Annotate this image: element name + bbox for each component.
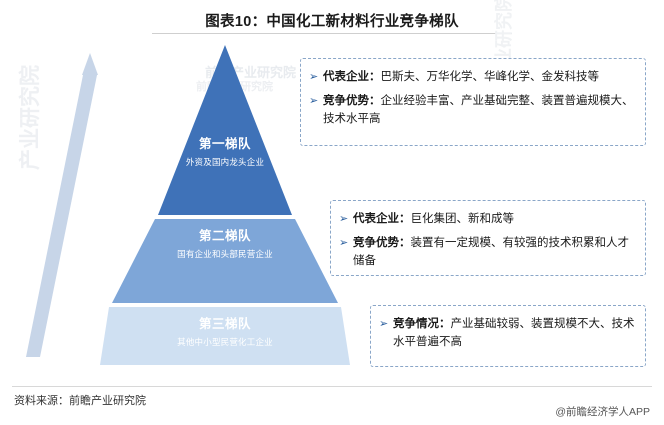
brand-credit: @前瞻经济学人APP xyxy=(555,404,650,419)
page-title: 图表10：中国化工新材料行业竞争梯队 xyxy=(0,10,664,31)
footer-divider xyxy=(12,386,652,387)
callout-label: 代表企业： xyxy=(323,71,381,83)
callout-tier-2: ➢ 代表企业：巨化集团、新和成等 ➢ 竞争优势：装置有一定规模、有较强的技术积累… xyxy=(330,200,646,276)
callout-label: 代表企业： xyxy=(353,213,411,225)
callout-item: ➢ 代表企业：巴斯夫、万华化学、华峰化学、金发科技等 xyxy=(309,68,635,86)
arrow-bullet-icon: ➢ xyxy=(309,92,323,110)
callout-text: 竞争情况：产业基础较弱、装置规模不大、技术水平普遍不高 xyxy=(393,315,635,351)
callout-label: 竞争情况： xyxy=(393,318,451,330)
callout-label: 竞争优势： xyxy=(353,237,411,249)
callout-value: 巴斯夫、万华化学、华峰化学、金发科技等 xyxy=(381,71,600,83)
title-divider xyxy=(152,33,512,34)
growth-arrow-icon xyxy=(20,45,110,365)
pyramid-tier-2[interactable] xyxy=(112,219,338,303)
pyramid-tier-1[interactable] xyxy=(158,45,292,215)
callout-value: 巨化集团、新和成等 xyxy=(411,213,515,225)
arrow-bullet-icon: ➢ xyxy=(339,234,353,252)
callout-item: ➢ 竞争优势：企业经验丰富、产业基础完整、装置普遍规模大、技术水平高 xyxy=(309,92,635,128)
callout-text: 竞争优势：装置有一定规模、有较强的技术积累和人才储备 xyxy=(353,234,635,270)
pyramid-tier-3[interactable] xyxy=(100,307,350,365)
callout-text: 竞争优势：企业经验丰富、产业基础完整、装置普遍规模大、技术水平高 xyxy=(323,92,635,128)
callout-item: ➢ 代表企业：巨化集团、新和成等 xyxy=(339,210,635,228)
callout-tier-1: ➢ 代表企业：巴斯夫、万华化学、华峰化学、金发科技等 ➢ 竞争优势：企业经验丰富… xyxy=(300,58,646,146)
callout-item: ➢ 竞争优势：装置有一定规模、有较强的技术积累和人才储备 xyxy=(339,234,635,270)
callout-tier-3: ➢ 竞争情况：产业基础较弱、装置规模不大、技术水平普遍不高 xyxy=(370,305,646,367)
infographic-page: 图表10：中国化工新材料行业竞争梯队 产业研究院 前瞻产业研究院 前瞻产业研究院… xyxy=(0,0,664,425)
callout-item: ➢ 竞争情况：产业基础较弱、装置规模不大、技术水平普遍不高 xyxy=(379,315,635,351)
callout-text: 代表企业：巴斯夫、万华化学、华峰化学、金发科技等 xyxy=(323,68,635,86)
arrow-bullet-icon: ➢ xyxy=(309,68,323,86)
source-note: 资料来源：前瞻产业研究院 xyxy=(14,392,146,408)
callout-text: 代表企业：巨化集团、新和成等 xyxy=(353,210,635,228)
arrow-bullet-icon: ➢ xyxy=(339,210,353,228)
arrow-bullet-icon: ➢ xyxy=(379,315,393,333)
callout-label: 竞争优势： xyxy=(323,95,381,107)
